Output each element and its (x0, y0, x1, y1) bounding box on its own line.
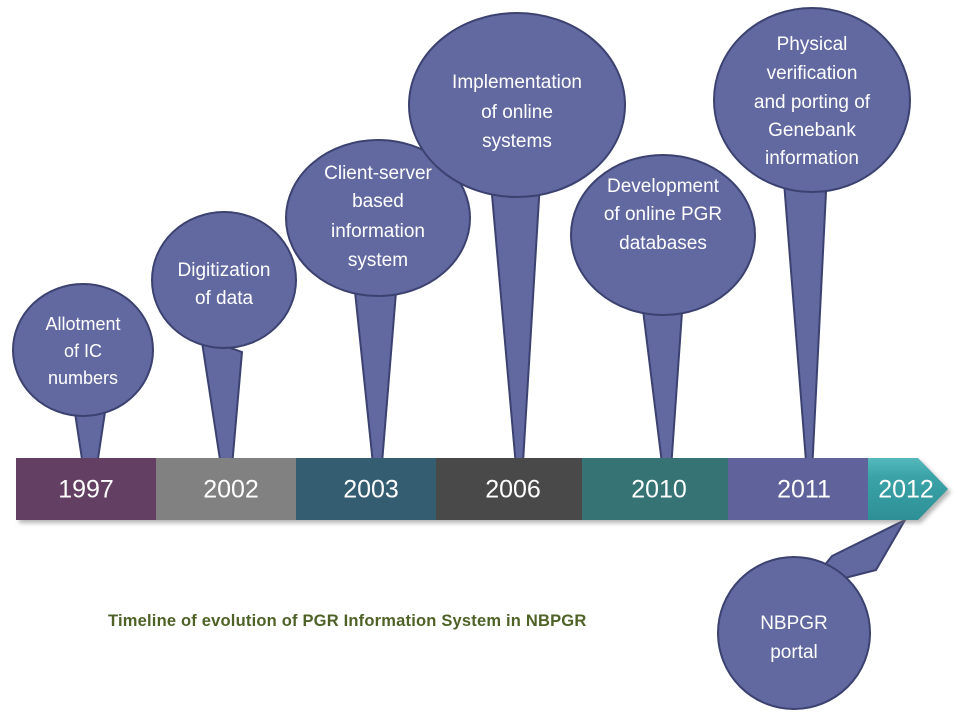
callout-2002-line-0: Digitization (178, 260, 271, 281)
year-label-2002: 2002 (203, 476, 259, 504)
callout-bubbles: Allotment of IC numbers Digitization of … (13, 8, 910, 709)
callout-2011-line-1: verification (767, 63, 858, 84)
callout-2003-line-0: Client-server (324, 163, 432, 184)
year-label-2010: 2010 (631, 476, 687, 504)
callout-2006-line-0: Implementation (452, 72, 582, 93)
callout-2002[interactable]: Digitization of data (152, 212, 296, 348)
callout-2006[interactable]: Implementation of online systems (409, 13, 625, 197)
callout-2010-line-1: of online PGR (604, 204, 722, 225)
callout-2012[interactable]: NBPGR portal (718, 557, 870, 709)
callout-2002-line-1: of data (195, 288, 254, 309)
callout-2011-line-0: Physical (777, 34, 848, 55)
callout-2011[interactable]: Physical verification and porting of Gen… (714, 8, 910, 192)
callout-1997[interactable]: Allotment of IC numbers (13, 284, 153, 416)
callout-1997-line-1: of IC (64, 341, 102, 361)
diagram-caption: Timeline of evolution of PGR Information… (108, 612, 586, 631)
timeline-diagram: Allotment of IC numbers Digitization of … (0, 0, 960, 720)
callout-2011-line-3: Genebank (768, 120, 856, 141)
year-label-2006: 2006 (485, 476, 541, 504)
callout-2003-line-3: system (348, 250, 408, 271)
callout-2010-line-0: Development (607, 176, 720, 197)
callout-1997-line-0: Allotment (45, 314, 120, 334)
callout-2010-line-2: databases (619, 233, 707, 254)
callout-2011-line-2: and porting of (754, 92, 871, 113)
year-label-1997: 1997 (58, 476, 114, 504)
callout-2012-line-1: portal (770, 642, 818, 663)
callout-2010[interactable]: Development of online PGR databases (571, 155, 755, 315)
callout-1997-line-2: numbers (48, 368, 118, 388)
year-label-2012: 2012 (878, 476, 934, 504)
callout-2012-line-0: NBPGR (760, 613, 828, 634)
year-label-2011: 2011 (777, 476, 831, 504)
callout-2006-line-1: of online (481, 102, 553, 123)
year-label-2003: 2003 (343, 476, 399, 504)
callout-2003-line-2: information (331, 221, 425, 242)
callout-2011-line-4: information (765, 148, 859, 169)
callout-2006-line-2: systems (482, 131, 552, 152)
callout-2003-line-1: based (352, 191, 404, 212)
